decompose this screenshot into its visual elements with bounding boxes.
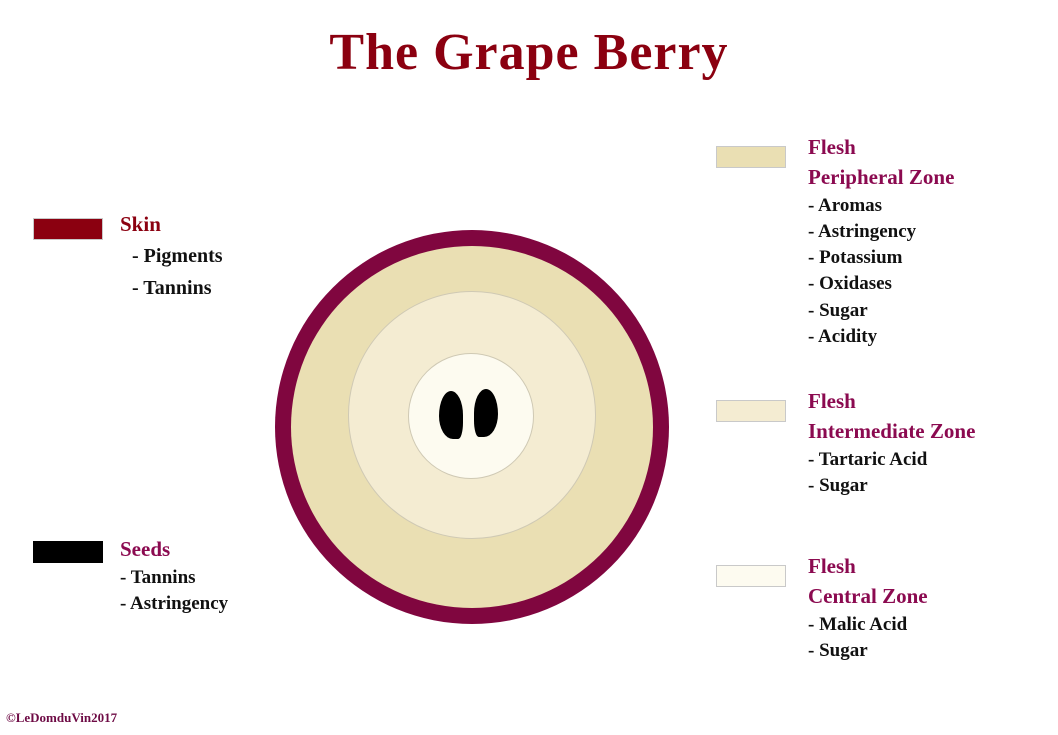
list-item: - Aromas [808,193,954,219]
legend-heading-intermediate-line1: Flesh [808,387,975,417]
legend-heading-central-line1: Flesh [808,552,928,582]
list-item: - Malic Acid [808,612,928,638]
list-item: - Astringency [808,219,954,245]
legend-swatch-seeds [33,541,103,563]
list-item: - Astringency [120,591,228,617]
legend-items-central-zone: - Malic Acid - Sugar [808,612,928,664]
berry-central-zone-layer [408,353,534,479]
legend-swatch-skin [33,218,103,240]
list-item: - Tartaric Acid [808,447,975,473]
legend-heading-peripheral-line1: Flesh [808,133,954,163]
list-item: - Tannins [132,272,223,304]
grape-berry-diagram [275,230,669,624]
legend-heading-seeds: Seeds [120,535,228,565]
berry-seed-left [439,391,463,439]
legend-items-intermediate-zone: - Tartaric Acid - Sugar [808,447,975,499]
legend-text-skin: Skin - Pigments - Tannins [120,210,223,305]
legend-swatch-peripheral-zone [716,146,786,168]
legend-items-peripheral-zone: - Aromas - Astringency - Potassium - Oxi… [808,193,954,350]
list-item: - Sugar [808,473,975,499]
legend-heading-peripheral-line2: Peripheral Zone [808,163,954,193]
legend-text-central-zone: Flesh Central Zone - Malic Acid - Sugar [808,552,928,664]
legend-items-seeds: - Tannins - Astringency [120,565,228,617]
list-item: - Acidity [808,324,954,350]
legend-heading-central-line2: Central Zone [808,582,928,612]
legend-heading-intermediate-line2: Intermediate Zone [808,417,975,447]
legend-text-peripheral-zone: Flesh Peripheral Zone - Aromas - Astring… [808,133,954,350]
list-item: - Sugar [808,298,954,324]
list-item: - Sugar [808,638,928,664]
legend-text-seeds: Seeds - Tannins - Astringency [120,535,228,617]
list-item: - Oxidases [808,271,954,297]
legend-swatch-intermediate-zone [716,400,786,422]
page-title: The Grape Berry [0,24,1058,81]
legend-heading-skin: Skin [120,210,223,240]
legend-text-intermediate-zone: Flesh Intermediate Zone - Tartaric Acid … [808,387,975,499]
legend-items-skin: - Pigments - Tannins [120,240,223,305]
list-item: - Pigments [132,240,223,272]
legend-swatch-central-zone [716,565,786,587]
list-item: - Potassium [808,245,954,271]
grape-berry-infographic: The Grape Berry Skin - Pigments - Tannin… [0,0,1058,735]
list-item: - Tannins [120,565,228,591]
copyright-notice: ©LeDomduVin2017 [6,710,117,726]
